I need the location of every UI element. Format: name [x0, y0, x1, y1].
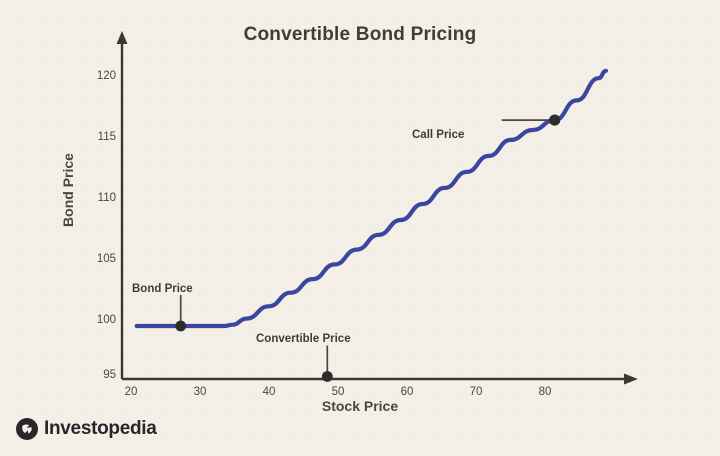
chart-plot-area — [0, 0, 720, 456]
x-axis-arrowhead — [624, 374, 638, 385]
investopedia-swirl-icon — [16, 418, 38, 440]
y-axis-arrowhead — [117, 31, 128, 44]
investopedia-logo: Investopedia — [16, 418, 157, 440]
annotation-label-convertible-price: Convertible Price — [256, 333, 351, 345]
convertible-bond-value-curve — [137, 71, 606, 326]
convertible-price-marker — [322, 371, 333, 382]
bond-price-marker — [175, 321, 186, 332]
investopedia-wordmark: Investopedia — [44, 418, 157, 440]
call-price-marker — [549, 115, 560, 126]
annotation-label-call-price: Call Price — [412, 129, 464, 141]
annotation-label-bond-price: Bond Price — [132, 283, 193, 295]
chart-canvas: Convertible Bond Pricing Stock Price Bon… — [0, 0, 720, 456]
